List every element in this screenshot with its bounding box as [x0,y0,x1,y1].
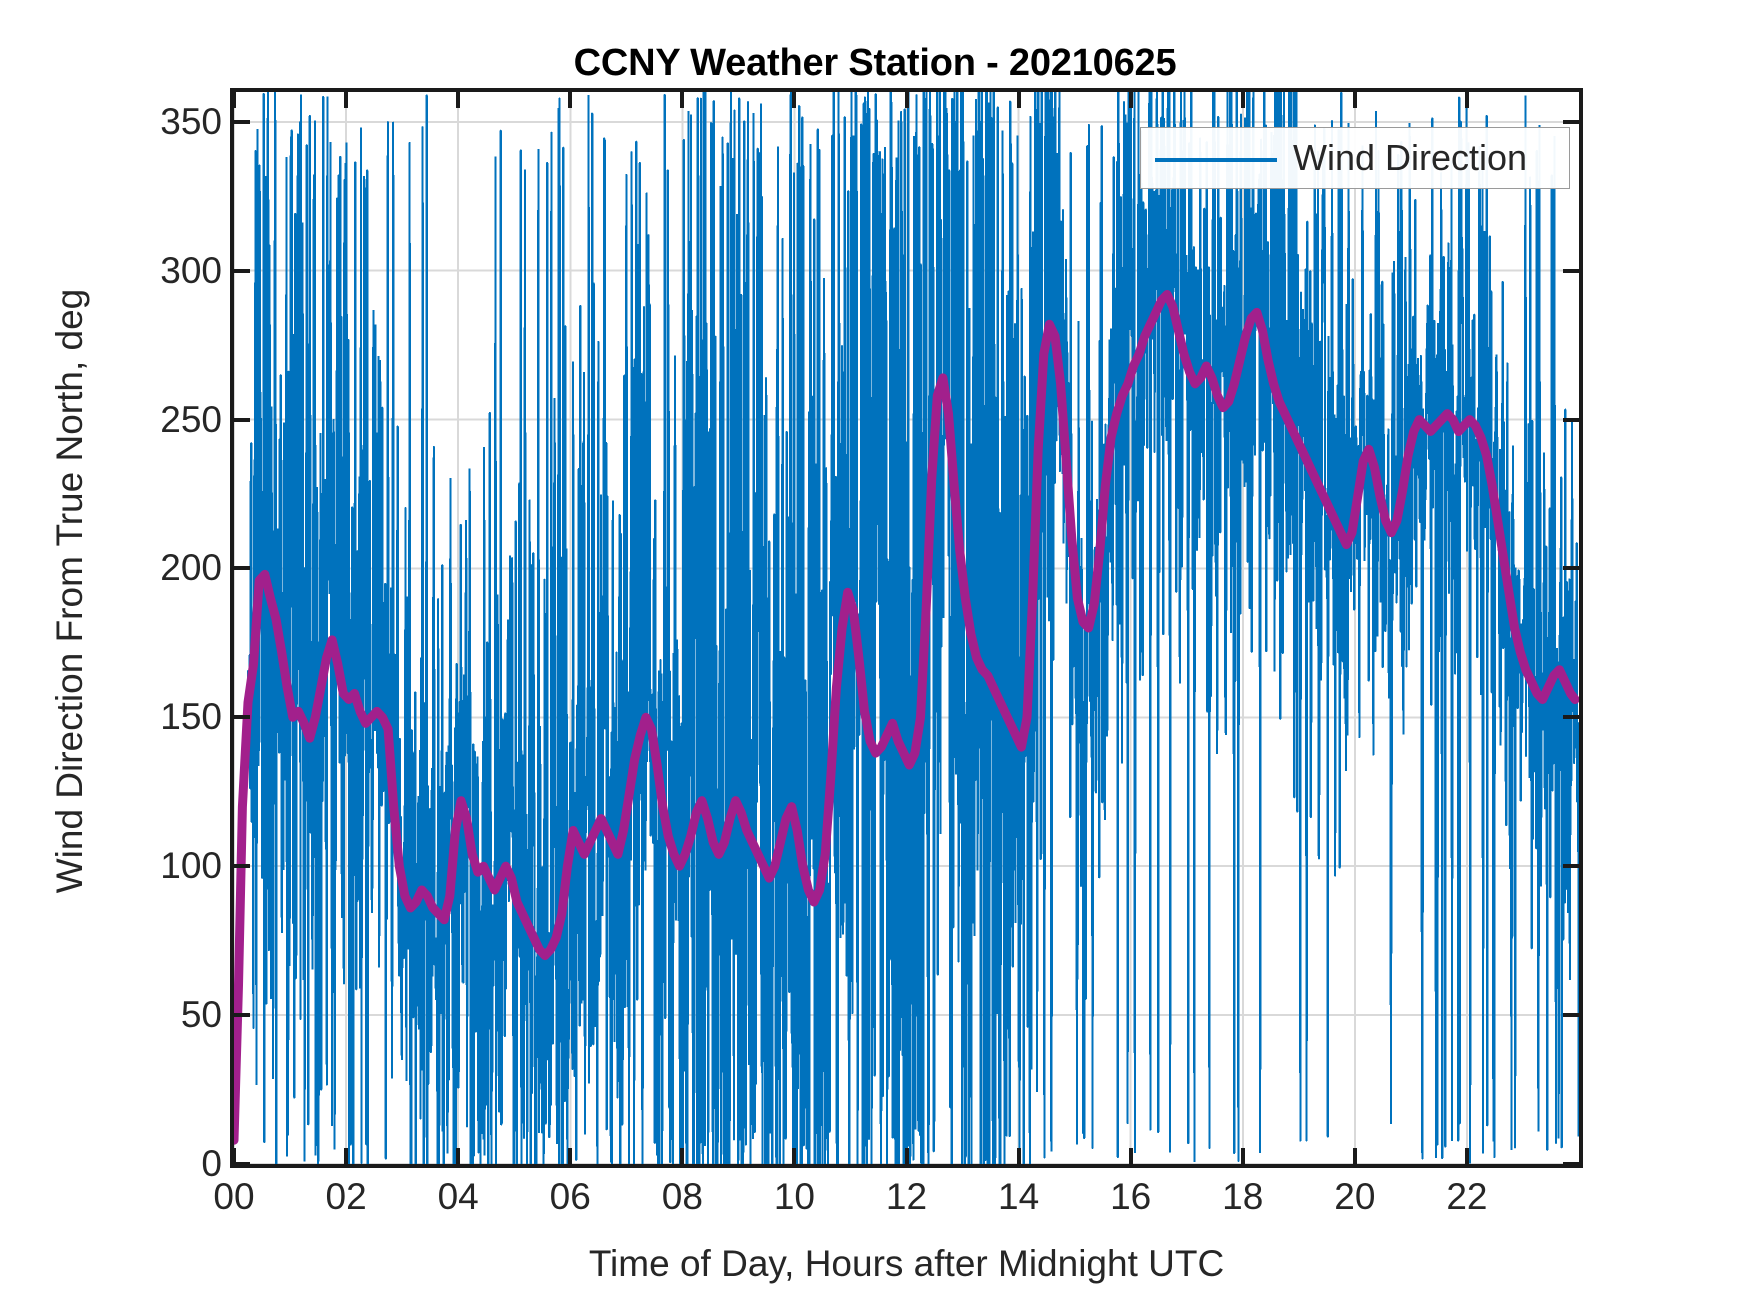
plot-area [230,88,1583,1168]
legend[interactable]: Wind Direction [1140,127,1570,189]
x-tick-mark [1465,1148,1469,1164]
y-tick-mark [234,864,250,868]
x-tick-mark [905,1148,909,1164]
x-tick-mark-top [680,92,684,108]
x-tick-mark [568,1148,572,1164]
y-tick-mark [234,418,250,422]
legend-line-sample-wind-direction [1155,158,1277,162]
series-wind-direction-raw [241,92,1579,1164]
x-tick-mark [680,1148,684,1164]
x-tick-mark [456,1148,460,1164]
x-tick-mark-top [232,92,236,108]
y-tick-mark [234,715,250,719]
y-tick-mark-right [1563,120,1579,124]
page-title: CCNY Weather Station - 20210625 [0,42,1750,85]
x-tick-mark [344,1148,348,1164]
chart-canvas: CCNY Weather Station - 20210625 Wind Dir… [0,0,1750,1313]
x-tick-mark [1241,1148,1245,1164]
x-tick-label-02: 02 [286,1176,406,1218]
y-axis-label: Wind Direction From True North, deg [49,91,91,1091]
y-tick-label-250: 250 [22,399,222,441]
x-tick-label-14: 14 [959,1176,1079,1218]
x-tick-mark [792,1148,796,1164]
x-tick-mark-top [1017,92,1021,108]
x-tick-mark [1017,1148,1021,1164]
y-tick-mark [234,1013,250,1017]
y-tick-mark-right [1563,1013,1579,1017]
y-tick-label-300: 300 [22,250,222,292]
plot-svg [234,92,1579,1164]
y-tick-mark [234,269,250,273]
x-tick-label-00: 00 [174,1176,294,1218]
x-axis-label: Time of Day, Hours after Midnight UTC [230,1243,1583,1285]
y-tick-mark [234,120,250,124]
y-tick-mark-right [1563,1162,1579,1166]
x-tick-mark-top [905,92,909,108]
y-tick-label-50: 50 [22,994,222,1036]
x-tick-label-22: 22 [1407,1176,1527,1218]
x-tick-label-04: 04 [398,1176,518,1218]
x-tick-mark [1129,1148,1133,1164]
y-tick-mark [234,1162,250,1166]
x-tick-mark-top [1353,92,1357,108]
x-tick-label-12: 12 [847,1176,967,1218]
plot-inner [234,92,1579,1164]
x-tick-mark-top [1465,92,1469,108]
x-tick-mark-top [344,92,348,108]
y-tick-mark-right [1563,715,1579,719]
x-tick-mark [232,1148,236,1164]
x-tick-label-10: 10 [734,1176,854,1218]
x-tick-label-06: 06 [510,1176,630,1218]
x-tick-label-18: 18 [1183,1176,1303,1218]
y-tick-label-150: 150 [22,696,222,738]
y-tick-mark-right [1563,269,1579,273]
x-tick-mark-top [568,92,572,108]
y-tick-label-200: 200 [22,547,222,589]
y-tick-label-350: 350 [22,101,222,143]
x-tick-mark-top [1129,92,1133,108]
x-tick-mark-top [456,92,460,108]
x-tick-label-20: 20 [1295,1176,1415,1218]
x-tick-mark [1353,1148,1357,1164]
x-tick-mark-top [1241,92,1245,108]
x-tick-label-16: 16 [1071,1176,1191,1218]
y-tick-mark-right [1563,418,1579,422]
x-tick-mark-top [792,92,796,108]
y-tick-mark-right [1563,566,1579,570]
legend-label-wind-direction: Wind Direction [1293,137,1527,179]
y-tick-label-100: 100 [22,845,222,887]
y-tick-mark [234,566,250,570]
y-tick-mark-right [1563,864,1579,868]
x-tick-label-08: 08 [622,1176,742,1218]
